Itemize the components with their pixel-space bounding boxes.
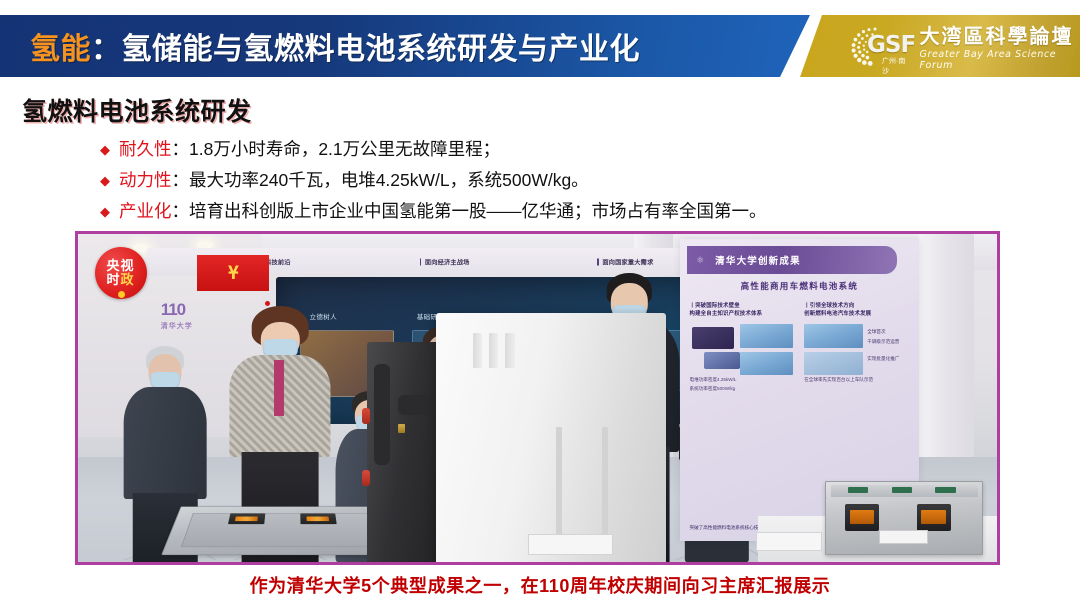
vent-slot	[473, 333, 482, 368]
brass-fitting	[398, 424, 405, 433]
poster-subtitle: 高性能商用车燃料电池系统	[680, 280, 919, 292]
flag-star-icon: Ұ	[228, 264, 239, 283]
poster-column-left: 丨突破国际技术壁垒 构建全自主知识产权技术体系 电堆功率密度4.25kW/L 系…	[689, 302, 794, 392]
photo-caption: 作为清华大学5个典型成果之一，在110周年校庆期间向习主席汇报展示	[0, 572, 1080, 598]
gsf-logo: GSF 广州·南沙 大湾區科學論壇 Greater Bay Area Scien…	[845, 24, 1080, 70]
red-cap-icon	[362, 470, 370, 486]
gsf-wordmark: GSF	[867, 32, 915, 58]
poster-right-note: 千辆级示范运营	[867, 338, 899, 345]
page-title: 氢能：氢储能与氢燃料电池系统研发与产业化	[30, 15, 640, 77]
poster-photo	[804, 324, 863, 348]
banner-slogan: 面向经济主战场	[425, 257, 470, 266]
page-title-keyword: 氢能	[30, 24, 91, 68]
poster-right-note: 实现批量化推广	[867, 355, 899, 362]
tray-connector	[300, 514, 336, 525]
pipe	[374, 364, 390, 465]
bullet-list: ◆ 耐久性 ： 1.8万小时寿命，2.1万公里无故障里程； ◆ 动力性 ： 最大…	[100, 136, 1030, 229]
battery-module	[825, 481, 983, 555]
logo-text-stack: 大湾區科學論壇 Greater Bay Area Science Forum	[919, 26, 1080, 71]
slide-header: 氢能：氢储能与氢燃料电池系统研发与产业化	[0, 15, 1080, 77]
bullet-separator: ：	[172, 136, 190, 161]
gsf-logo-mark: GSF 广州·南沙	[845, 25, 911, 69]
poster-photo	[740, 352, 793, 376]
bullet-label: 产业化	[119, 198, 172, 223]
poster-left-figures	[689, 321, 794, 373]
tray-connector	[227, 514, 264, 525]
bullet-label: 动力性	[119, 167, 172, 192]
gsf-city-label: 广州·南沙	[882, 56, 911, 76]
poster-photo	[804, 352, 863, 376]
torso	[124, 387, 207, 500]
bullet-separator: ：	[172, 167, 190, 192]
poster-left-note: 系统功率密度500W/kg	[689, 385, 794, 392]
battery-connector	[845, 504, 879, 531]
anniversary-sub: 清华大学	[161, 321, 193, 331]
poster-left-note: 电堆功率密度4.25kW/L	[689, 376, 794, 383]
banner-slogan: 面向国家重大需求	[602, 257, 653, 266]
bullet-label: 耐久性	[119, 136, 172, 161]
photo-content: 立德树人 基础研究 关键技术 工程应用 开放合作创新 面向世界科技前沿 面向经济…	[78, 234, 997, 562]
anniversary-mark: 110 清华大学	[161, 300, 193, 331]
poster-right-figures: 全球首次 千辆级示范运营 实现批量化推广	[804, 321, 909, 373]
poster-column-right: 丨引领全球技术方向 创新燃料电池汽车技术发展 全球首次 千辆级示范运营 实现批量…	[804, 302, 909, 384]
battery-label	[879, 530, 928, 544]
red-cap-icon	[362, 408, 370, 424]
cctv-badge-line2: 时政	[107, 273, 135, 287]
anniversary-number: 110	[161, 300, 185, 319]
stack-graphic	[704, 352, 740, 370]
vent-slot	[505, 333, 514, 368]
logo-chinese-name: 大湾區科學論壇	[919, 26, 1080, 46]
bullet-item: ◆ 产业化 ： 培育出科创版上市企业中国氢能第一股——亿华通；市场占有率全国第一…	[100, 198, 1030, 229]
bullet-text: 1.8万小时寿命，2.1万公里无故障里程；	[189, 136, 500, 161]
decor-dot-yellow-icon	[118, 291, 125, 298]
decor-dot-red-icon	[265, 301, 270, 306]
exhibition-photo: 立德树人 基础研究 关键技术 工程应用 开放合作创新 面向世界科技前沿 面向经济…	[75, 231, 1000, 565]
poster-photo	[740, 324, 793, 348]
section-subtitle: 氢燃料电池系统研发	[22, 92, 252, 128]
page-title-rest: ：氢储能与氢燃料电池系统研发与产业化	[91, 24, 640, 68]
vehicle-graphic	[692, 327, 734, 349]
battery-terminal	[892, 487, 912, 493]
slide-root: 氢能：氢储能与氢燃料电池系统研发与产业化	[0, 0, 1080, 608]
bullet-text: 最大功率240千瓦，电堆4.25kW/L，系统500W/kg。	[189, 167, 589, 192]
cctv-flag-graphic: Ұ	[197, 255, 269, 291]
poster-right-note: 在全球率先实现百台以上车队示范	[804, 376, 909, 383]
battery-connector	[917, 504, 951, 531]
info-card	[756, 532, 822, 550]
lanyard	[274, 360, 284, 416]
diamond-bullet-icon: ◆	[100, 143, 110, 156]
poster-header: ⚛ 清华大学创新成果	[687, 246, 897, 273]
diamond-bullet-icon: ◆	[100, 205, 110, 218]
bullet-item: ◆ 耐久性 ： 1.8万小时寿命，2.1万公里无故障里程；	[100, 136, 1030, 167]
poster-right-note: 全球首次	[867, 328, 885, 335]
poster-right-heading: 丨引领全球技术方向 创新燃料电池汽车技术发展	[804, 302, 909, 318]
bullet-item: ◆ 动力性 ： 最大功率240千瓦，电堆4.25kW/L，系统500W/kg。	[100, 167, 1030, 198]
poster-title: 清华大学创新成果	[715, 253, 801, 267]
bullet-text: 培育出科创版上市企业中国氢能第一股——亿华通；市场占有率全国第一。	[189, 198, 767, 223]
cctv-badge-line1: 央视	[107, 259, 135, 273]
battery-terminal	[848, 487, 868, 493]
info-card	[528, 534, 613, 556]
vent-slot	[489, 333, 498, 368]
bullet-separator: ：	[172, 198, 190, 223]
diamond-bullet-icon: ◆	[100, 174, 110, 187]
logo-english-name: Greater Bay Area Science Forum	[919, 49, 1080, 71]
fuel-cell-stack-module	[436, 313, 666, 562]
atom-icon: ⚛	[696, 255, 704, 266]
battery-terminal	[935, 487, 955, 493]
poster-left-heading: 丨突破国际技术壁垒 构建全自主知识产权技术体系	[689, 302, 794, 318]
